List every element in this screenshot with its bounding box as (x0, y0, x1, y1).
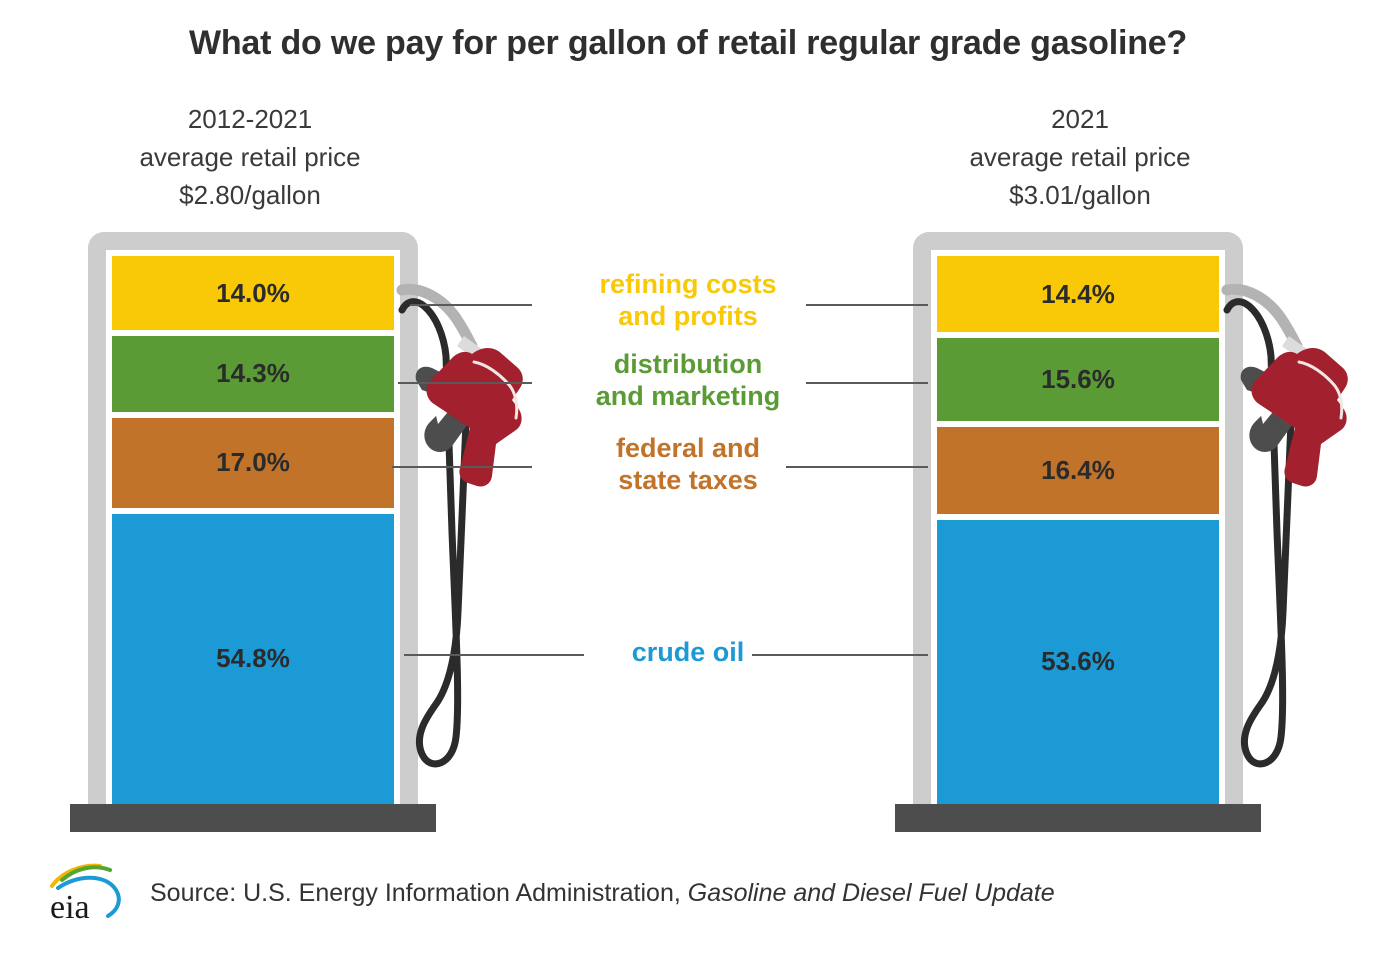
legend-refining-line2: and profits (476, 300, 900, 332)
gas-pump-right: 14.4% 15.6% 16.4% 53.6% (913, 232, 1243, 832)
eia-logo-icon: eia (48, 862, 134, 924)
infographic-page: What do we pay for per gallon of retail … (0, 0, 1376, 956)
legend-taxes-line1: federal and (476, 432, 900, 464)
column-right-period: 2021 (870, 100, 1290, 138)
gas-pump-left: 14.0% 14.3% 17.0% 54.8% (88, 232, 418, 832)
eia-wordmark: eia (50, 889, 90, 924)
column-right-subtitle: average retail price (870, 138, 1290, 176)
pump-base-left (70, 804, 436, 832)
stacked-bar-left: 14.0% 14.3% 17.0% 54.8% (112, 256, 394, 804)
pump-base-right (895, 804, 1261, 832)
segment-distribution-right[interactable]: 15.6% (937, 338, 1219, 421)
segment-crude-right[interactable]: 53.6% (937, 520, 1219, 804)
legend-distribution-line2: and marketing (476, 380, 900, 412)
source-publication: Gasoline and Diesel Fuel Update (688, 879, 1055, 907)
segment-crude-left[interactable]: 54.8% (112, 514, 394, 804)
segment-taxes-left[interactable]: 17.0% (112, 418, 394, 508)
legend-item-crude: crude oil (476, 636, 900, 668)
legend-item-distribution: distribution and marketing (476, 348, 900, 412)
segment-distribution-left[interactable]: 14.3% (112, 336, 394, 412)
footer: eia Source: U.S. Energy Information Admi… (48, 862, 1055, 924)
legend-taxes-line2: state taxes (476, 464, 900, 496)
legend-item-taxes: federal and state taxes (476, 432, 900, 496)
column-header-left: 2012-2021 average retail price $2.80/gal… (40, 100, 460, 214)
column-left-price: $2.80/gallon (40, 176, 460, 214)
column-left-subtitle: average retail price (40, 138, 460, 176)
segment-refining-left[interactable]: 14.0% (112, 256, 394, 330)
column-header-right: 2021 average retail price $3.01/gallon (870, 100, 1290, 214)
segment-taxes-right[interactable]: 16.4% (937, 427, 1219, 514)
stacked-bar-right: 14.4% 15.6% 16.4% 53.6% (937, 256, 1219, 804)
pump-nozzle-hose-right (1225, 232, 1376, 792)
legend-refining-line1: refining costs (476, 268, 900, 300)
segment-refining-right[interactable]: 14.4% (937, 256, 1219, 332)
column-right-price: $3.01/gallon (870, 176, 1290, 214)
source-prefix: Source: U.S. Energy Information Administ… (150, 879, 688, 907)
legend-distribution-line1: distribution (476, 348, 900, 380)
legend-item-refining: refining costs and profits (476, 268, 900, 332)
page-title: What do we pay for per gallon of retail … (0, 24, 1376, 63)
column-left-period: 2012-2021 (40, 100, 460, 138)
source-citation: Source: U.S. Energy Information Administ… (150, 879, 1055, 908)
